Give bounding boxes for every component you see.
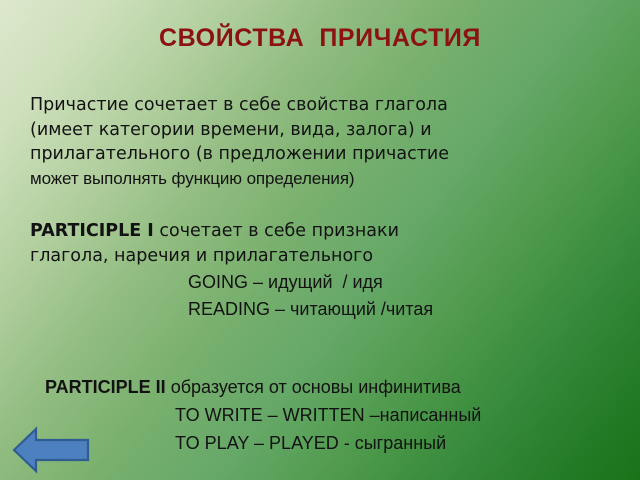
participle-one-block: PARTICIPLE I сочетает в себе признаки гл… xyxy=(30,219,550,323)
slide-canvas: СВОЙСТВА ПРИЧАСТИЯ Причастие сочетает в … xyxy=(0,0,640,480)
participle-one-label: PARTICIPLE I xyxy=(30,221,154,241)
participle-one-lead-rest: сочетает в себе признаки xyxy=(154,221,399,241)
participle-two-example-2: TO PLAY – PLAYED - сыгранный xyxy=(45,429,625,457)
participle-two-lead-line: PARTICIPLE II образуется от основы инфин… xyxy=(45,373,625,401)
page-title: СВОЙСТВА ПРИЧАСТИЯ xyxy=(0,24,640,53)
participle-two-block: PARTICIPLE II образуется от основы инфин… xyxy=(45,373,625,457)
intro-line-3: прилагательного (в предложении причастие xyxy=(30,142,500,167)
participle-two-example-1: TO WRITE – WRITTEN –написанный xyxy=(45,401,625,429)
intro-paragraph: Причастие сочетает в себе свойства глаго… xyxy=(30,93,500,191)
participle-two-lead-rest: образуется от основы инфинитива xyxy=(166,377,461,397)
arrow-left-icon[interactable] xyxy=(11,424,91,476)
participle-one-lead-line: PARTICIPLE I сочетает в себе признаки xyxy=(30,219,550,244)
participle-one-example-1: GOING – идущий / идя xyxy=(30,269,550,296)
intro-line-1: Причастие сочетает в себе свойства глаго… xyxy=(30,93,500,118)
participle-two-label: PARTICIPLE II xyxy=(45,377,166,397)
back-navigation-button[interactable] xyxy=(11,424,91,476)
participle-one-example-2: READING – читающий /читая xyxy=(30,296,550,323)
participle-one-line-2: глагола, наречия и прилагательного xyxy=(30,244,550,269)
intro-line-2: (имеет категории времени, вида, залога) … xyxy=(30,118,500,143)
intro-line-4: может выполнять функцию определения) xyxy=(30,167,500,192)
